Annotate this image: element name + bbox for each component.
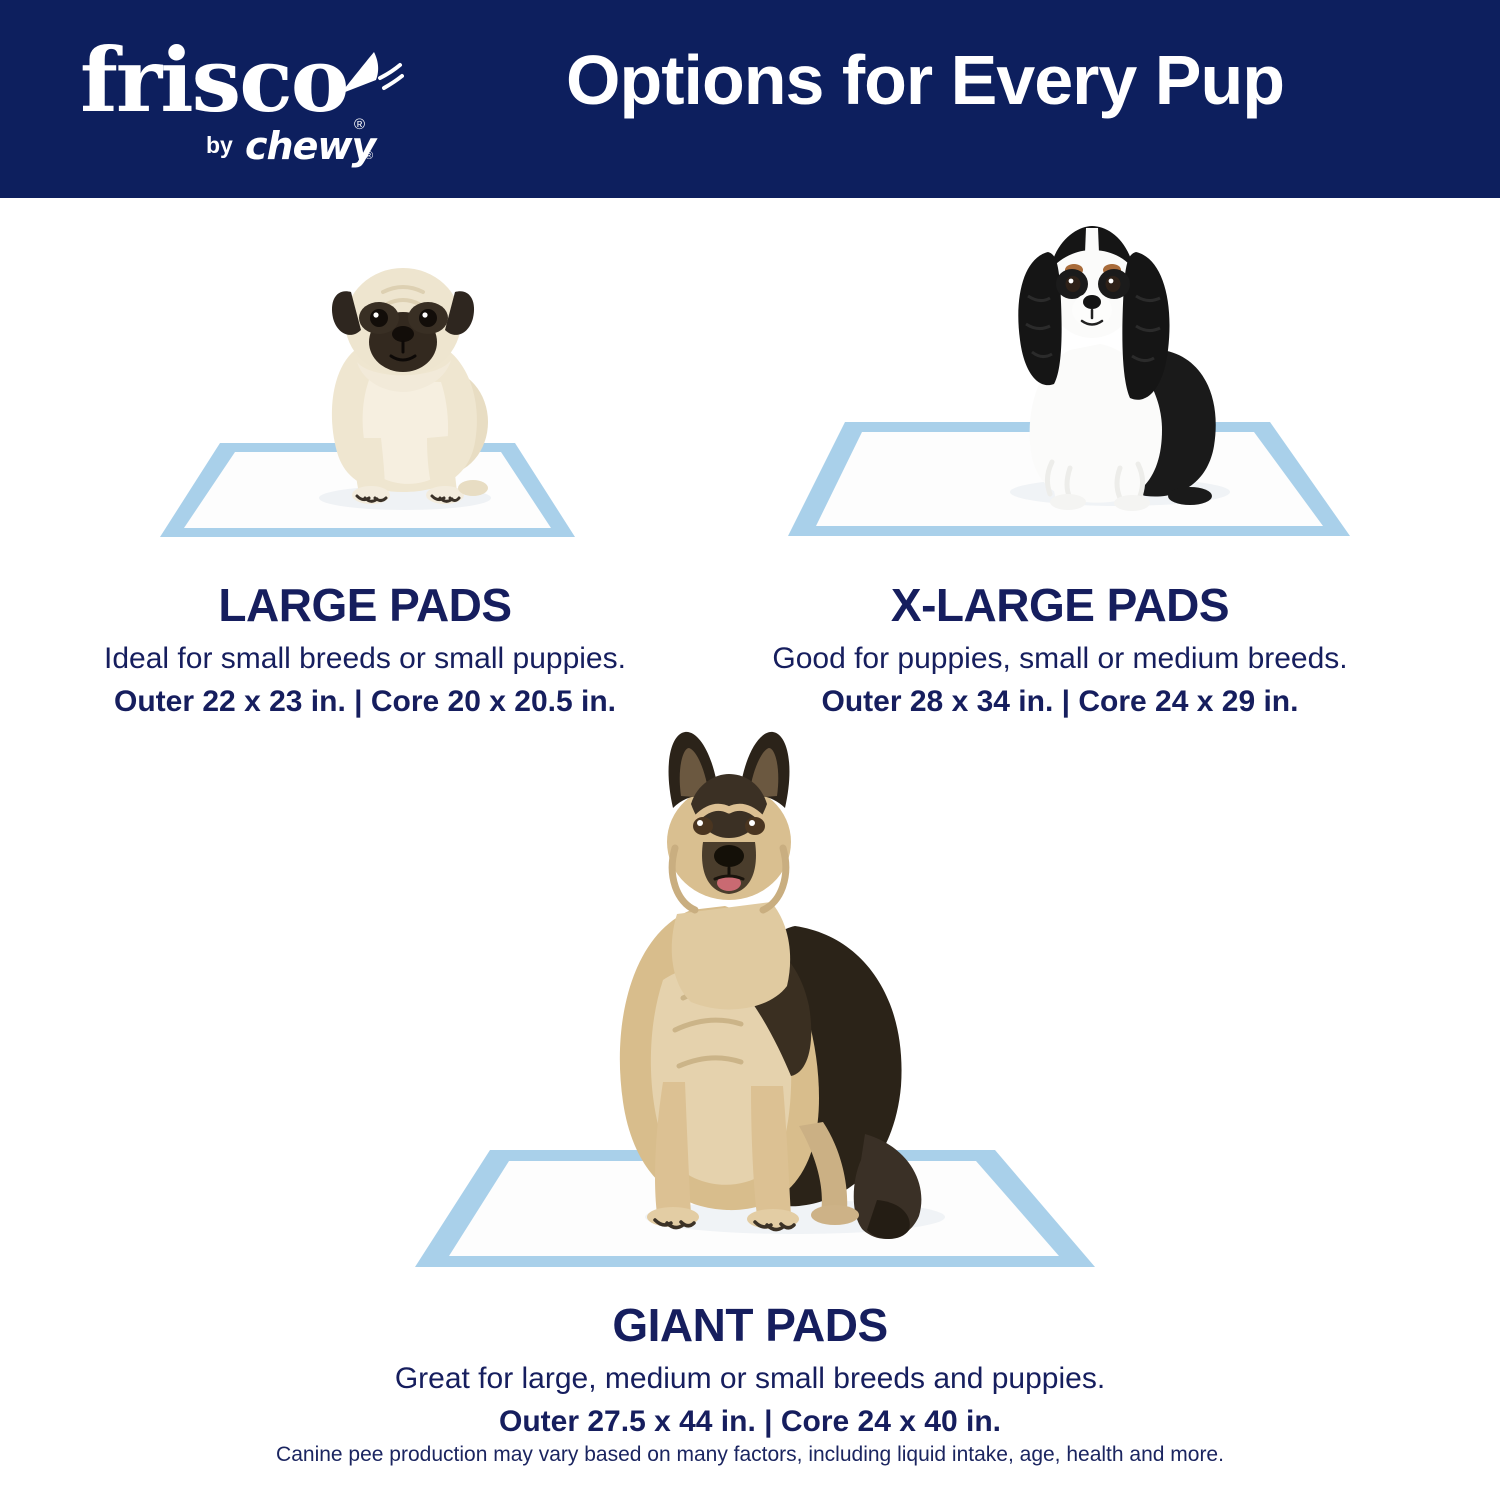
dog-german-shepherd-illustration — [620, 732, 922, 1239]
logo-swoosh-icon — [334, 48, 404, 108]
caption-large: LARGE PADS Ideal for small breeds or sma… — [30, 580, 700, 721]
product-dims-giant: Outer 27.5 x 44 in. | Core 24 x 40 in. — [250, 1402, 1250, 1441]
header-bar: frisco ® by chewy ® Options for Every Pu… — [0, 0, 1500, 198]
product-title-large: LARGE PADS — [30, 580, 700, 631]
product-desc-xlarge: Good for puppies, small or medium breeds… — [720, 639, 1400, 678]
logo-wordmark: frisco — [80, 36, 347, 124]
dog-cavalier-illustration — [1018, 226, 1215, 511]
caption-giant: GIANT PADS Great for large, medium or sm… — [250, 1300, 1250, 1441]
xlarge-pad-illustration — [770, 200, 1370, 550]
logo-chewy-registered-mark: ® — [365, 150, 373, 162]
product-scene-giant — [395, 730, 1105, 1290]
footnote-disclaimer: Canine pee production may vary based on … — [0, 1443, 1500, 1467]
product-desc-giant: Great for large, medium or small breeds … — [250, 1359, 1250, 1398]
product-dims-xlarge: Outer 28 x 34 in. | Core 24 x 29 in. — [720, 682, 1400, 721]
caption-xlarge: X-LARGE PADS Good for puppies, small or … — [720, 580, 1400, 721]
product-desc-large: Ideal for small breeds or small puppies. — [30, 639, 700, 678]
frisco-logo: frisco ® by chewy ® — [72, 40, 392, 165]
product-title-xlarge: X-LARGE PADS — [720, 580, 1400, 631]
product-title-giant: GIANT PADS — [250, 1300, 1250, 1351]
product-scene-xlarge — [770, 200, 1370, 550]
large-pad-illustration — [155, 230, 585, 550]
giant-pad-illustration — [395, 730, 1105, 1290]
logo-chewy-wordmark: chewy — [245, 124, 375, 168]
logo-by-label: by — [206, 132, 233, 159]
page-title: Options for Every Pup — [420, 44, 1430, 118]
product-dims-large: Outer 22 x 23 in. | Core 20 x 20.5 in. — [30, 682, 700, 721]
product-scene-large — [155, 230, 585, 550]
infographic-page: frisco ® by chewy ® Options for Every Pu… — [0, 0, 1500, 1500]
